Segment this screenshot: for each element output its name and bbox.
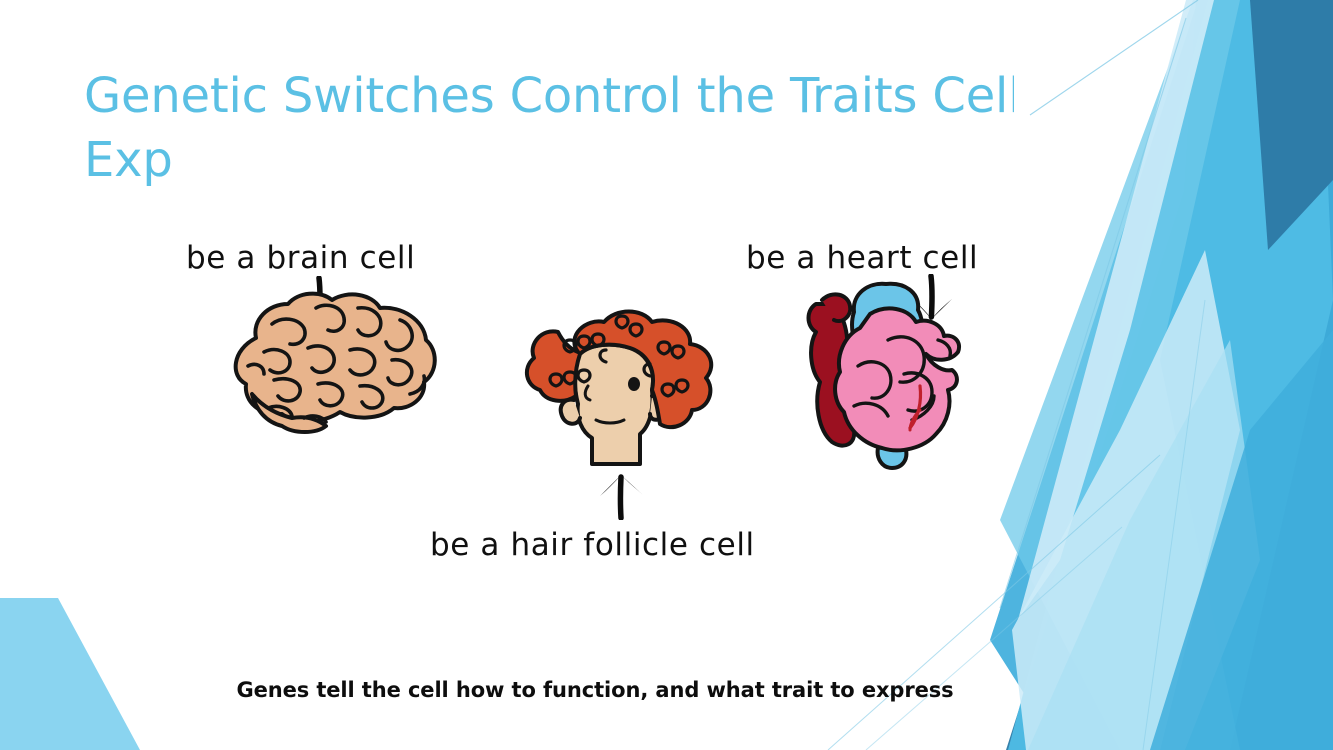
brain-illustration [212, 268, 452, 453]
slide-title[interactable]: Genetic Switches Control the Traits Cell… [84, 64, 1014, 194]
decor-band-dark-right [1150, 0, 1333, 750]
decor-band-light [1000, 0, 1240, 750]
eye-right [628, 377, 640, 391]
decor-band-deep-notch [1250, 0, 1333, 250]
hair-follicle-head-illustration [500, 292, 726, 477]
decor-hairline-vert [1143, 300, 1205, 750]
heart-muscle [835, 308, 959, 450]
title-line-1: Genetic Switches Control the Traits Cell… [84, 64, 1014, 128]
decor-band-mid-foot [1150, 330, 1333, 750]
decor-band-pale-lower [1012, 250, 1240, 750]
decor-hairline-diag2 [866, 527, 1122, 750]
title-line-2: Exp [84, 128, 1014, 192]
arrow-up-to-hair-follicle-icon [590, 472, 652, 520]
decor-band-pale-foot [1028, 340, 1260, 750]
face-shape [575, 345, 654, 464]
decor-band-sky [1008, 0, 1333, 750]
decor-band-pale-upper [1018, 0, 1214, 620]
decor-band-sky-wide [990, 0, 1333, 750]
slide-caption: Genes tell the cell how to function, and… [190, 678, 1000, 702]
presentation-slide: Genetic Switches Control the Traits Cell… [0, 0, 1333, 750]
decor-hairline-long [1000, 18, 1186, 608]
decor-band-deep [1006, 0, 1333, 750]
decor-hairline-diag [828, 455, 1160, 750]
heart-illustration [792, 270, 972, 480]
label-be-a-hair-follicle-cell: be a hair follicle cell [430, 527, 755, 563]
bottom-left-wedge [0, 598, 140, 750]
decor-hairline-upper [1030, 0, 1198, 115]
